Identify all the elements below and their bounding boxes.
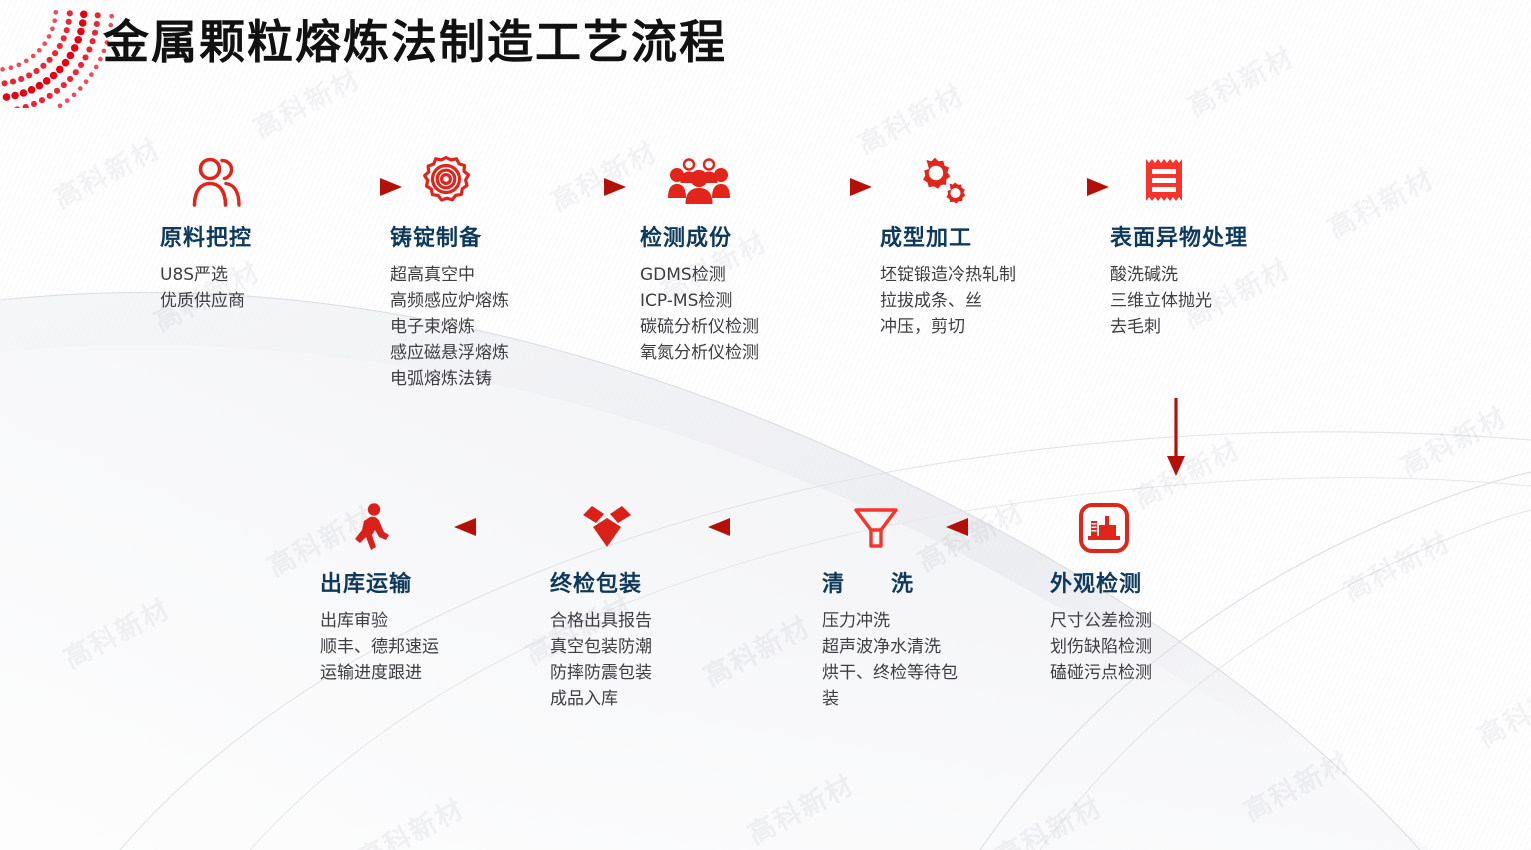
step-title: 外观检测: [1050, 566, 1310, 598]
funnel-icon: [822, 498, 1082, 558]
step-detail-line: 超高真空中: [390, 262, 650, 288]
step-detail-list: 压力冲洗 超声波净水清洗 烘干、终检等待包装: [822, 608, 974, 712]
step-detail-line: 电弧熔炼法铸: [390, 366, 650, 392]
page-header: 金属颗粒熔炼法制造工艺流程: [0, 0, 1531, 92]
receipt-icon: [1110, 152, 1370, 212]
step-detail-list: 坯锭锻造冷热轧制 拉拔成条、丝 冲压，剪切: [880, 262, 1130, 340]
step-title: 清 洗: [822, 566, 1082, 598]
step-detail-line: 烘干、终检等待包装: [822, 660, 974, 712]
step-detail-line: 冲压，剪切: [880, 314, 1130, 340]
step-detail-line: 感应磁悬浮熔炼: [390, 340, 650, 366]
factory-badge-icon: [1050, 498, 1310, 558]
step-title: 铸锭制备: [390, 220, 650, 252]
step-detail-list: 酸洗碱洗 三维立体抛光 去毛刺: [1110, 262, 1370, 340]
step-detail-line: 超声波净水清洗: [822, 634, 974, 660]
step-detail-line: 压力冲洗: [822, 608, 974, 634]
step-detail-list: 尺寸公差检测 划伤缺陷检测 磕碰污点检测: [1050, 608, 1310, 686]
step-title: 检测成份: [640, 220, 900, 252]
process-flow-diagram: 原料把控 U8S严选 优质供应商 铸锭制备: [0, 0, 1531, 850]
step-detail-line: U8S严选: [160, 262, 420, 288]
step-detail-list: 合格出具报告 真空包装防潮 防摔防震包装 成品入库: [550, 608, 810, 712]
step-detail-line: 成品入库: [550, 686, 810, 712]
step-title: 原料把控: [160, 220, 420, 252]
step-detail-line: 运输进度跟进: [320, 660, 580, 686]
page-title: 金属颗粒熔炼法制造工艺流程: [103, 6, 727, 72]
step-detail-list: 出库审验 顺丰、德邦速运 运输进度跟进: [320, 608, 580, 686]
flow-step-outbound-transport[interactable]: 出库运输 出库审验 顺丰、德邦速运 运输进度跟进: [320, 498, 580, 686]
step-detail-line: 划伤缺陷检测: [1050, 634, 1310, 660]
step-detail-line: 坯锭锻造冷热轧制: [880, 262, 1130, 288]
flow-step-appearance-inspection[interactable]: 外观检测 尺寸公差检测 划伤缺陷检测 磕碰污点检测: [1050, 498, 1310, 686]
step-detail-line: 碳硫分析仪检测: [640, 314, 900, 340]
step-detail-line: ICP-MS检测: [640, 288, 900, 314]
step-detail-line: 电子束熔炼: [390, 314, 650, 340]
step-detail-line: 优质供应商: [160, 288, 420, 314]
step-detail-list: U8S严选 优质供应商: [160, 262, 420, 314]
step-detail-line: 尺寸公差检测: [1050, 608, 1310, 634]
step-detail-line: 去毛刺: [1110, 314, 1370, 340]
step-detail-line: 出库审验: [320, 608, 580, 634]
flow-arrow-right: [995, 172, 1115, 202]
step-detail-line: 高频感应炉熔炼: [390, 288, 650, 314]
step-detail-line: 防摔防震包装: [550, 660, 810, 686]
flow-arrow-right: [758, 172, 878, 202]
open-box-icon: [550, 498, 810, 558]
step-detail-list: GDMS检测 ICP-MS检测 碳硫分析仪检测 氧氮分析仪检测: [640, 262, 900, 366]
step-title: 终检包装: [550, 566, 810, 598]
step-detail-line: 氧氮分析仪检测: [640, 340, 900, 366]
step-detail-line: 酸洗碱洗: [1110, 262, 1370, 288]
step-detail-line: 真空包装防潮: [550, 634, 810, 660]
step-detail-line: 顺丰、德邦速运: [320, 634, 580, 660]
flow-arrow-right: [512, 172, 632, 202]
step-detail-line: 磕碰污点检测: [1050, 660, 1310, 686]
step-detail-list: 超高真空中 高频感应炉熔炼 电子束熔炼 感应磁悬浮熔炼 电弧熔炼法铸: [390, 262, 650, 392]
step-detail-line: 拉拔成条、丝: [880, 288, 1130, 314]
step-detail-line: 三维立体抛光: [1110, 288, 1370, 314]
step-detail-line: 合格出具报告: [550, 608, 810, 634]
step-title: 成型加工: [880, 220, 1140, 252]
flow-step-final-inspection-packaging[interactable]: 终检包装 合格出具报告 真空包装防潮 防摔防震包装 成品入库: [550, 498, 810, 712]
running-person-icon: [320, 498, 580, 558]
step-title: 表面异物处理: [1110, 220, 1370, 252]
step-detail-line: GDMS检测: [640, 262, 900, 288]
flow-step-surface-treatment[interactable]: 表面异物处理 酸洗碱洗 三维立体抛光 去毛刺: [1110, 152, 1370, 340]
flow-step-cleaning[interactable]: 清 洗 压力冲洗 超声波净水清洗 烘干、终检等待包装: [822, 498, 1082, 712]
step-title: 出库运输: [320, 566, 580, 598]
flow-arrow-down: [1158, 398, 1194, 478]
